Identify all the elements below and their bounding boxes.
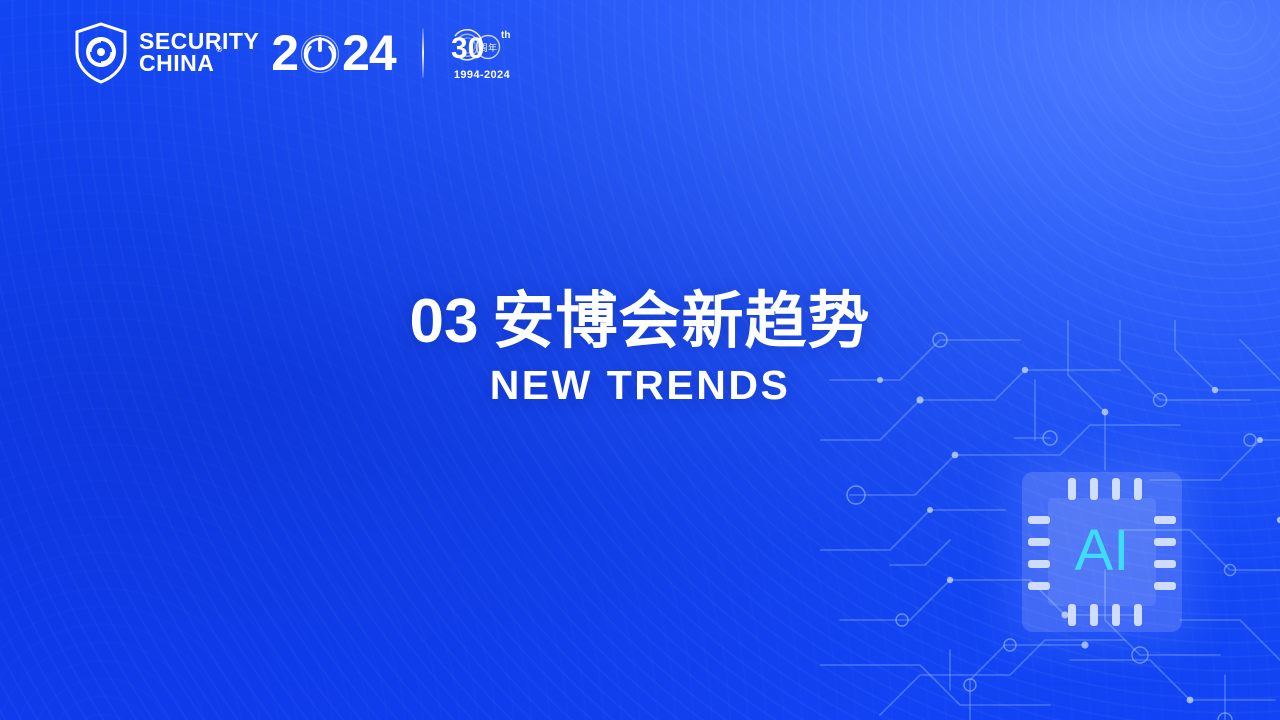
ai-chip-label: AI: [1075, 518, 1130, 583]
brand-logo-lockup[interactable]: SECURITY CHINA® 2 24 30 周年 th 19: [74, 22, 518, 84]
logo-divider: [422, 28, 424, 78]
anniversary-date-range: 1994-2024: [454, 69, 511, 81]
year-digit-2: 2: [271, 28, 298, 78]
wordmark-line-china: CHINA®: [139, 53, 259, 75]
anniversary-badge: 30 周年 th 1994-2024: [446, 22, 518, 84]
shield-logo-icon: [74, 22, 128, 84]
power-button-icon: [299, 32, 341, 74]
ai-chip-icon: AI: [1022, 472, 1182, 632]
section-title-cn: 安博会新趋势: [492, 287, 870, 356]
brand-wordmark: SECURITY CHINA®: [139, 31, 259, 75]
slide-headline: 03安博会新趋势 NEW TRENDS: [0, 289, 1280, 409]
year-digits-24: 24: [342, 28, 396, 78]
anniversary-ordinal: th: [501, 30, 510, 41]
page-title: 03安博会新趋势: [0, 289, 1280, 354]
registered-mark: ®: [216, 45, 222, 54]
anniversary-chinese-label: 周年: [479, 42, 497, 54]
presentation-slide: AI SECURITY CHINA® 2 24: [0, 0, 1280, 720]
section-number: 03: [410, 287, 479, 356]
year-2024: 2 24: [271, 28, 395, 78]
section-subtitle-en: NEW TRENDS: [0, 362, 1280, 409]
